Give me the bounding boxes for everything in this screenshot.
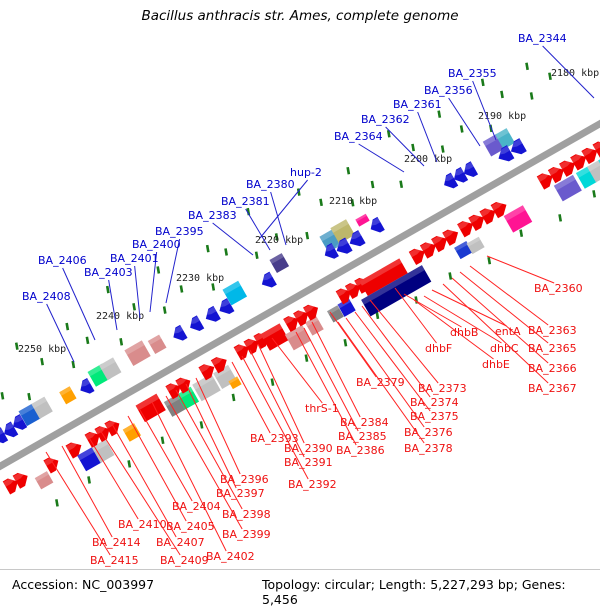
gene-label-red[interactable]: BA_2398: [222, 508, 271, 521]
gene-label-blue[interactable]: BA_2362: [361, 113, 410, 126]
scale-marker-label: 2180 kbp: [551, 68, 599, 79]
gene-label-red[interactable]: dhbF: [425, 342, 452, 355]
gene-label-blue[interactable]: BA_2403: [84, 266, 133, 279]
gene-label-blue[interactable]: BA_2381: [221, 195, 270, 208]
status-bar: Accession: NC_003997 Topology: circular;…: [0, 569, 600, 600]
gene-label-blue[interactable]: BA_2406: [38, 254, 87, 267]
topology-text: Topology: circular; Length: 5,227,293 bp…: [262, 577, 600, 607]
gene-label-red[interactable]: dhbB: [450, 326, 478, 339]
genome-map-viewer: Bacillus anthracis str. Ames, complete g…: [0, 0, 600, 600]
gene-label-blue[interactable]: BA_2364: [334, 130, 383, 143]
scale-marker-label: 2230 kbp: [176, 273, 224, 284]
gene-label-blue[interactable]: BA_2400: [132, 238, 181, 251]
gene-label-red[interactable]: thrS-1: [305, 402, 339, 415]
gene-leader-line: [395, 288, 437, 343]
gene-label-red[interactable]: BA_2367: [528, 382, 577, 395]
gene-label-blue[interactable]: BA_2395: [155, 225, 204, 238]
gene-label-red[interactable]: BA_2402: [206, 550, 255, 563]
gene-label-red[interactable]: BA_2409: [160, 554, 209, 567]
gene-label-red[interactable]: BA_2415: [90, 554, 139, 567]
gene-label-red[interactable]: BA_2378: [404, 442, 453, 455]
gene-label-red[interactable]: BA_2385: [338, 430, 387, 443]
gene-label-red[interactable]: BA_2386: [336, 444, 385, 457]
gene-label-red[interactable]: BA_2407: [156, 536, 205, 549]
gene-leader-line: [359, 144, 404, 172]
scale-marker-label: 2200 kbp: [404, 154, 452, 165]
gene-leader-line: [487, 256, 554, 283]
gene-leader-line: [330, 312, 376, 377]
gene-label-red[interactable]: BA_2384: [340, 416, 389, 429]
gene-label-red[interactable]: entA: [495, 325, 521, 338]
gene-leader-line: [176, 390, 242, 509]
gene-leader-line: [304, 328, 358, 431]
gene-leader-line: [449, 98, 480, 146]
gene-label-red[interactable]: BA_2374: [410, 396, 459, 409]
gene-label-blue[interactable]: BA_2355: [448, 67, 497, 80]
gene-label-red[interactable]: dhbE: [482, 358, 510, 371]
gene-label-blue[interactable]: BA_2356: [424, 84, 473, 97]
gene-label-red[interactable]: BA_2404: [172, 500, 221, 513]
gene-label-red[interactable]: BA_2410: [118, 518, 167, 531]
gene-label-red[interactable]: BA_2375: [410, 410, 459, 423]
gene-label-red[interactable]: BA_2393: [250, 432, 299, 445]
gene-label-red[interactable]: BA_2365: [528, 342, 577, 355]
gene-leader-line: [470, 266, 548, 325]
gene-label-red[interactable]: BA_2397: [216, 487, 265, 500]
gene-label-blue[interactable]: BA_2383: [188, 209, 237, 222]
gene-leader-line: [109, 280, 117, 330]
scale-marker-label: 2240 kbp: [96, 311, 144, 322]
gene-leader-line: [242, 356, 308, 479]
gene-leader-line: [46, 452, 110, 555]
gene-label-red[interactable]: BA_2376: [404, 426, 453, 439]
gene-label-red[interactable]: BA_2392: [288, 478, 337, 491]
gene-label-blue[interactable]: BA_2380: [246, 178, 295, 191]
gene-label-blue[interactable]: BA_2408: [22, 290, 71, 303]
gene-label-blue[interactable]: BA_2401: [110, 252, 159, 265]
gene-leader-line: [186, 384, 236, 488]
gene-label-red[interactable]: BA_2379: [356, 376, 405, 389]
gene-label-red[interactable]: BA_2391: [284, 456, 333, 469]
gene-label-layer[interactable]: 2180 kbp2190 kbp2200 kbp2210 kbp2220 kbp…: [0, 0, 600, 600]
gene-label-red[interactable]: BA_2396: [220, 473, 269, 486]
gene-label-red[interactable]: BA_2363: [528, 324, 577, 337]
accession-text: Accession: NC_003997: [12, 577, 154, 592]
gene-label-blue[interactable]: BA_2344: [518, 32, 567, 45]
gene-leader-line: [213, 223, 253, 255]
gene-label-blue[interactable]: BA_2361: [393, 98, 442, 111]
gene-leader-line: [346, 318, 424, 427]
gene-leader-line: [62, 446, 112, 537]
scale-marker-label: 2210 kbp: [329, 196, 377, 207]
gene-label-blue[interactable]: hup-2: [290, 166, 322, 179]
gene-leader-line: [404, 294, 462, 327]
scale-marker-label: 2250 kbp: [18, 344, 66, 355]
gene-label-red[interactable]: BA_2399: [222, 528, 271, 541]
gene-label-red[interactable]: BA_2366: [528, 362, 577, 375]
gene-label-red[interactable]: BA_2373: [418, 382, 467, 395]
gene-label-red[interactable]: dhbC: [490, 342, 519, 355]
gene-label-red[interactable]: BA_2360: [534, 282, 583, 295]
